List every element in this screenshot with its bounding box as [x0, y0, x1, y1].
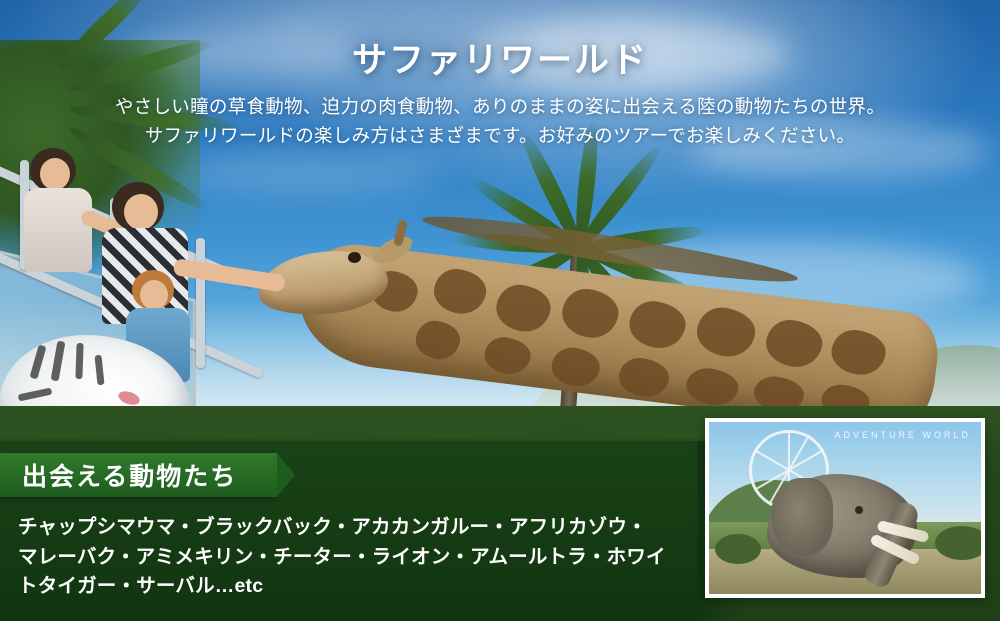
- lead-paragraph: やさしい瞳の草食動物、迫力の肉食動物、ありのままの姿に出会える陸の動物たちの世界…: [0, 92, 1000, 150]
- animals-ribbon-heading: 出会える動物たち: [0, 453, 277, 497]
- giraffe-eye: [348, 252, 361, 263]
- visitor-face: [40, 158, 70, 190]
- giraffe-spot: [482, 335, 532, 376]
- platform-post: [196, 238, 205, 368]
- visitor-face: [124, 194, 158, 230]
- tiger-stripe: [29, 345, 46, 380]
- photo-bush: [935, 526, 985, 560]
- giraffe-spot: [494, 282, 553, 334]
- photo-bush: [715, 534, 761, 564]
- giraffe-spot: [560, 286, 621, 340]
- elephant-ear: [771, 478, 833, 556]
- giraffe-spot: [829, 327, 888, 377]
- giraffe-spot: [627, 299, 688, 351]
- hero-banner: サファリワールド プレイゾーン: [0, 0, 1000, 621]
- elephant-photo-card: ADVENTURE WORLD: [705, 418, 985, 598]
- giraffe-spot: [764, 317, 825, 369]
- giraffe-spot: [694, 305, 757, 360]
- tiger-stripe: [51, 341, 66, 382]
- animals-list-text: チャップシマウマ・ブラックバック・アカカンガルー・アフリカゾウ・マレーバク・アミ…: [18, 513, 666, 602]
- lead-line-2: サファリワールドの楽しみ方はさまざまです。お好みのツアーでお楽しみください。: [0, 121, 1000, 150]
- giraffe-spot: [414, 319, 462, 362]
- visitor-arm: [173, 258, 286, 292]
- elephant-eye: [855, 506, 863, 514]
- page-title: サファリワールド: [0, 32, 1000, 83]
- lead-line-1: やさしい瞳の草食動物、迫力の肉食動物、ありのままの姿に出会える陸の動物たちの世界…: [0, 92, 1000, 121]
- tiger-stripe: [75, 343, 83, 379]
- visitor-face: [140, 280, 168, 310]
- giraffe-spot: [432, 266, 489, 316]
- visitor-torso: [24, 188, 92, 272]
- animals-panel: 出会える動物たち チャップシマウマ・ブラックバック・アカカンガルー・アフリカゾウ…: [0, 441, 700, 621]
- photo-watermark: ADVENTURE WORLD: [834, 430, 971, 440]
